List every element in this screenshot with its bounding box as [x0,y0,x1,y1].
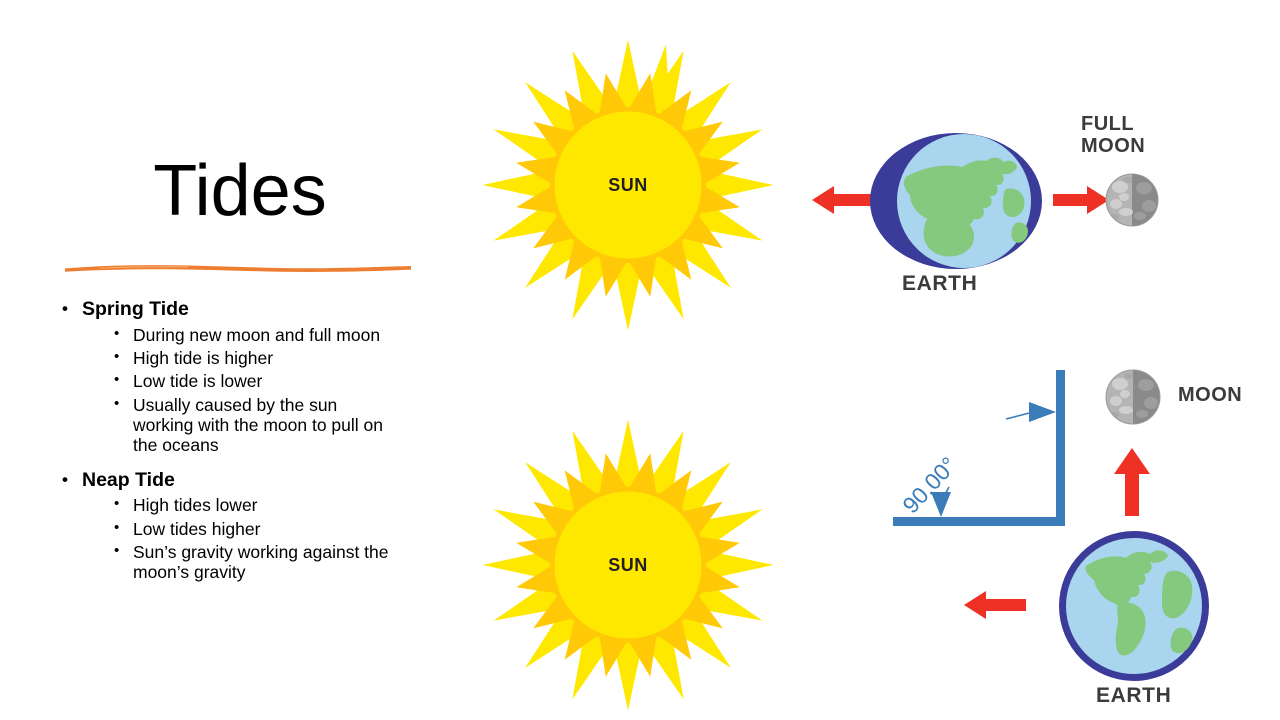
earth-label-neap: EARTH [1096,684,1171,708]
bullet-level1-spring-tide: • Spring Tide [62,298,422,322]
list-item-label: High tide is higher [133,348,395,368]
tidal-bulge-arrow-right-icon [1053,182,1109,218]
page-title: Tides [60,155,420,227]
list-item: • High tide is higher [114,348,422,368]
moon-icon-neap [1104,368,1162,426]
bullet-glyph: • [114,325,133,344]
list-item-label: During new moon and full moon [133,325,395,345]
bullet-glyph: • [114,371,133,390]
sun-icon [478,35,778,335]
tidal-bulge-arrow-up-icon [1112,448,1152,516]
list-item: • Low tides higher [114,519,422,539]
sun-graphic-spring: SUN [478,35,778,335]
list-item: • During new moon and full moon [114,325,422,345]
bullet-glyph: • [62,469,82,491]
bullet-glyph: • [62,298,82,320]
bullet-glyph: • [114,348,133,367]
slide-root: Tides • Spring Tide • During new moon an… [0,0,1280,720]
list-item-label: Low tides higher [133,519,395,539]
bullet-glyph: • [114,519,133,538]
list-item: • Usually caused by the sun working with… [114,395,422,456]
bullet-glyph: • [114,495,133,514]
bullet-level1-label: Neap Tide [82,469,422,493]
sun-icon [478,415,778,715]
full-moon-label: FULL MOON [1081,114,1145,157]
text-column: Tides • Spring Tide • During new moon an… [0,0,455,720]
bullet-level1-neap-tide: • Neap Tide [62,469,422,493]
sun-graphic-neap: SUN [478,415,778,715]
list-item: • High tides lower [114,495,422,515]
full-moon-label-line1: FULL [1081,114,1145,136]
section-spacer [62,456,422,467]
moon-label-neap: MOON [1178,385,1242,407]
bullet-glyph: • [114,395,133,414]
list-item: • Sun’s gravity working against the moon… [114,542,422,583]
bullet-glyph: • [114,542,133,561]
list-item-label: Sun’s gravity working against the moon’s… [133,542,395,583]
list-item-label: Usually caused by the sun working with t… [133,395,395,456]
earth-label-spring: EARTH [902,272,977,296]
list-item: • Low tide is lower [114,371,422,391]
full-moon-icon [1104,172,1160,228]
bullet-level1-label: Spring Tide [82,298,422,322]
earth-graphic-spring [866,131,1046,271]
full-moon-label-line2: MOON [1081,136,1145,158]
tidal-bulge-arrow-left-neap-icon [964,587,1026,623]
list-item-label: Low tide is lower [133,371,395,391]
earth-graphic-neap [1056,528,1212,684]
tidal-bulge-arrow-left-icon [812,182,874,218]
title-underline-decoration [64,260,412,273]
bullet-list: • Spring Tide • During new moon and full… [62,296,422,583]
list-item-label: High tides lower [133,495,395,515]
